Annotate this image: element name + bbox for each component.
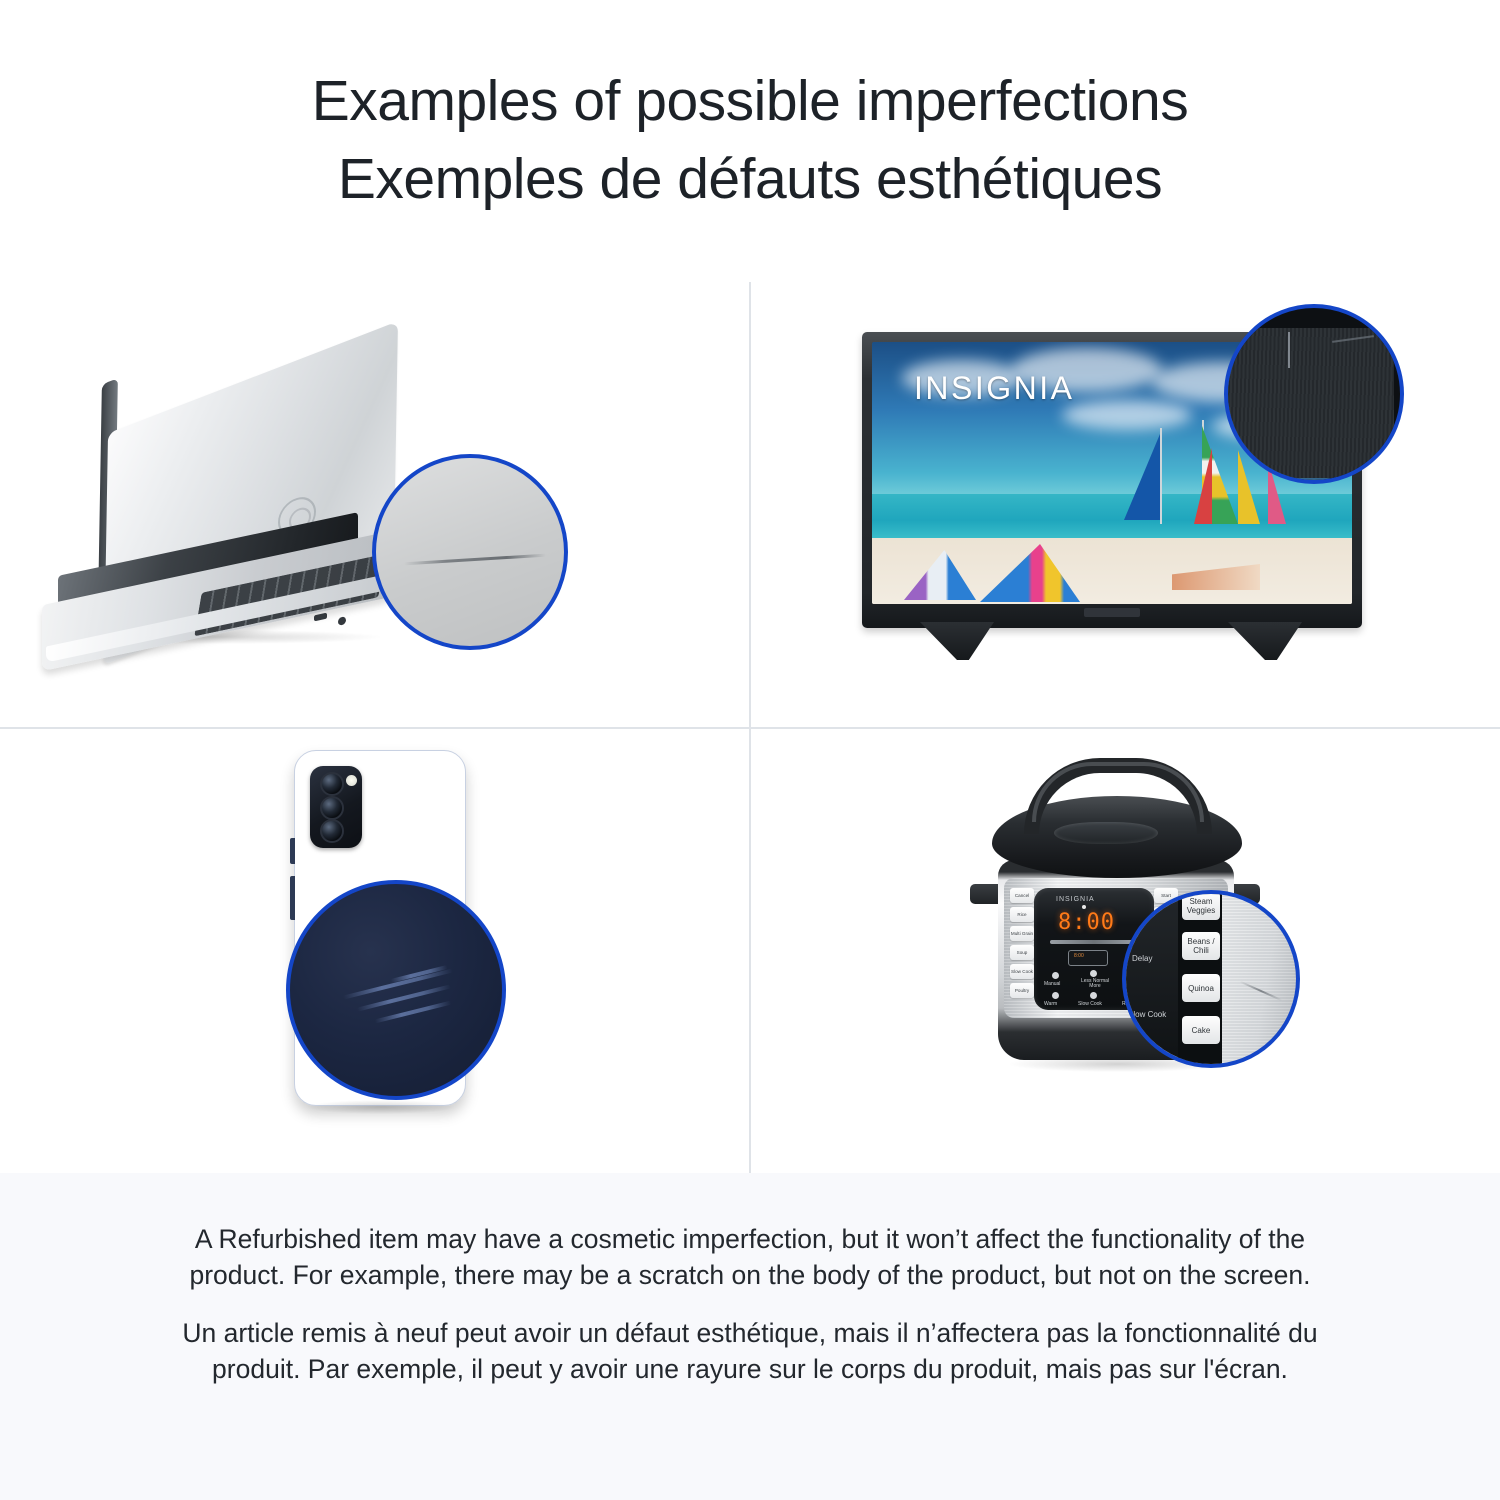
camera-lens-icon — [320, 819, 344, 843]
cooker-magnified-label: Delay — [1132, 954, 1152, 963]
phone-power-button — [290, 838, 295, 864]
phone-illustration — [268, 750, 518, 1150]
cooker-button[interactable]: Slow Cook — [1010, 964, 1034, 979]
page-title: Examples of possible imperfections Exemp… — [0, 62, 1500, 218]
example-pressure-cooker: Cancel Rice Multi Grain Soup Slow Cook P… — [750, 728, 1500, 1173]
title-english: Examples of possible imperfections — [0, 62, 1500, 140]
cooker-button-label: Rice — [1010, 907, 1034, 922]
cooker-button-label: Cancel — [1010, 888, 1034, 903]
laptop-audio-port-icon — [338, 616, 346, 626]
cooker-button[interactable]: Multi Grain — [1010, 926, 1034, 941]
cooker-magnified-button-label: Cake — [1182, 1016, 1220, 1044]
cloud-shape — [1062, 400, 1192, 430]
cooker-button-label: Poultry — [1010, 983, 1034, 998]
phone-scuff-mark — [343, 969, 453, 1000]
caption-french: Un article remis à neuf peut avoir un dé… — [178, 1315, 1322, 1387]
cooker-button-label: Slow Cook — [1010, 964, 1034, 979]
cooker-panel-label: Warm — [1044, 1001, 1057, 1007]
laptop-illustration — [20, 378, 490, 658]
cooker-magnified-button[interactable]: Steam Veggies — [1182, 892, 1220, 920]
cooker-brand-label: INSIGNIA — [1056, 896, 1095, 903]
cooker-magnified-button-label: Beans / Chili — [1182, 932, 1220, 960]
cooker-panel-button[interactable] — [1090, 970, 1097, 977]
example-laptop — [0, 282, 750, 727]
caption-english: A Refurbished item may have a cosmetic i… — [178, 1221, 1322, 1293]
refurbished-imperfections-infographic: Examples of possible imperfections Exemp… — [0, 0, 1500, 1500]
cooker-magnified-button[interactable]: Quinoa — [1182, 974, 1220, 1002]
cooker-status-indicator — [1082, 905, 1086, 909]
phone-camera-module — [310, 766, 362, 848]
cooker-button[interactable]: Soup — [1010, 945, 1034, 960]
tv-magnified-bezel — [1224, 328, 1394, 478]
cooker-magnifier-circle: Steam Veggies Beans / Chili Quinoa Cake … — [1122, 890, 1300, 1068]
mast-shape — [1160, 428, 1162, 524]
cooker-magnified-label: Slow Cook — [1128, 1010, 1166, 1019]
cooker-magnified-button-label: Steam Veggies — [1182, 892, 1220, 920]
caption-block: A Refurbished item may have a cosmetic i… — [0, 1173, 1500, 1500]
sail-shape — [1124, 434, 1160, 520]
camera-lens-icon — [320, 772, 344, 796]
cooker-illustration: Cancel Rice Multi Grain Soup Slow Cook P… — [958, 742, 1288, 1122]
cooker-panel-label: Slow Cook — [1078, 1001, 1102, 1007]
tv-illustration: INSIGNIA — [862, 304, 1382, 674]
phone-volume-button — [290, 876, 295, 920]
cooker-button-label: Soup — [1010, 945, 1034, 960]
cooker-led-display: 8:00 — [1058, 912, 1116, 934]
cooker-mini-display: 8:00 — [1068, 950, 1108, 966]
example-television: INSIGNIA — [750, 282, 1500, 727]
cooker-magnified-button[interactable]: Cake — [1182, 1016, 1220, 1044]
laptop-magnifier-circle — [372, 454, 568, 650]
cooker-button[interactable]: Poultry — [1010, 983, 1034, 998]
camera-flash-icon — [346, 775, 357, 786]
cooker-left-button-column: Cancel Rice Multi Grain Soup Slow Cook P… — [1010, 888, 1034, 1010]
laptop-magnifier-sheen — [376, 458, 564, 646]
cooker-panel-label: Manual — [1044, 981, 1060, 987]
cooker-progress-bar — [1050, 940, 1138, 944]
cooker-panel-label: Less Normal More — [1078, 979, 1112, 989]
cooker-panel-button[interactable] — [1052, 972, 1059, 979]
examples-grid: INSIGNIA — [0, 282, 1500, 1173]
cooker-button-label: Multi Grain — [1010, 926, 1034, 941]
cooker-mini-display-value: 8:00 — [1074, 954, 1084, 959]
tv-magnifier-circle — [1224, 304, 1404, 484]
cooker-panel-button[interactable] — [1090, 992, 1097, 999]
laptop-usb-port-icon — [314, 613, 327, 622]
tv-foot-left — [920, 622, 994, 660]
cooker-button[interactable]: Cancel — [1010, 888, 1034, 903]
cooker-scratch-mark — [1240, 981, 1283, 1002]
tv-bottom-badge — [1084, 608, 1140, 617]
tv-foot-right — [1228, 622, 1302, 660]
example-smartphone — [0, 728, 750, 1173]
cooker-panel-button[interactable] — [1052, 992, 1059, 999]
cooker-button[interactable]: Rice — [1010, 907, 1034, 922]
cooker-magnified-button-label: Quinoa — [1182, 974, 1220, 1002]
tv-bezel-crack — [1288, 332, 1290, 368]
tv-brand-logo: INSIGNIA — [914, 370, 1074, 407]
title-french: Exemples de défauts esthétiques — [0, 140, 1500, 218]
camera-lens-icon — [320, 796, 344, 820]
cooker-magnified-button[interactable]: Beans / Chili — [1182, 932, 1220, 960]
phone-magnifier-circle — [286, 880, 506, 1100]
